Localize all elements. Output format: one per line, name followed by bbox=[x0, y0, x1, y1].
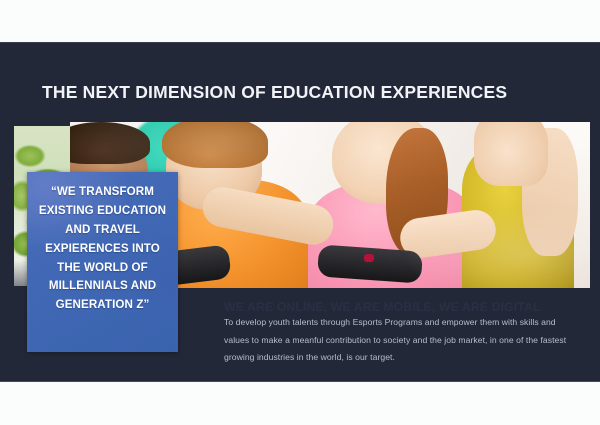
slide-top-divider bbox=[0, 42, 600, 43]
quote-card: “WE TRANSFORM EXISTING EDUCATION AND TRA… bbox=[27, 172, 178, 352]
slide-bottom-divider bbox=[0, 381, 600, 382]
page-title: THE NEXT DIMENSION OF EDUCATION EXPERIEN… bbox=[42, 82, 507, 103]
body-paragraph: To develop youth talents through Esports… bbox=[224, 314, 572, 367]
controller-button-icon bbox=[364, 254, 374, 262]
quote-text: “WE TRANSFORM EXISTING EDUCATION AND TRA… bbox=[35, 183, 170, 315]
photo-boy2-hair bbox=[162, 122, 268, 168]
slide-page: THE NEXT DIMENSION OF EDUCATION EXPERIEN… bbox=[0, 0, 600, 425]
presentation-slide: THE NEXT DIMENSION OF EDUCATION EXPERIEN… bbox=[0, 42, 600, 382]
photo-boy1-hair bbox=[70, 122, 150, 164]
photo-kid4-arm-raised bbox=[474, 122, 548, 186]
section-subheading: WE ARE ONLINE, WE ARE MOBILE, WE ARE DIG… bbox=[224, 300, 540, 314]
